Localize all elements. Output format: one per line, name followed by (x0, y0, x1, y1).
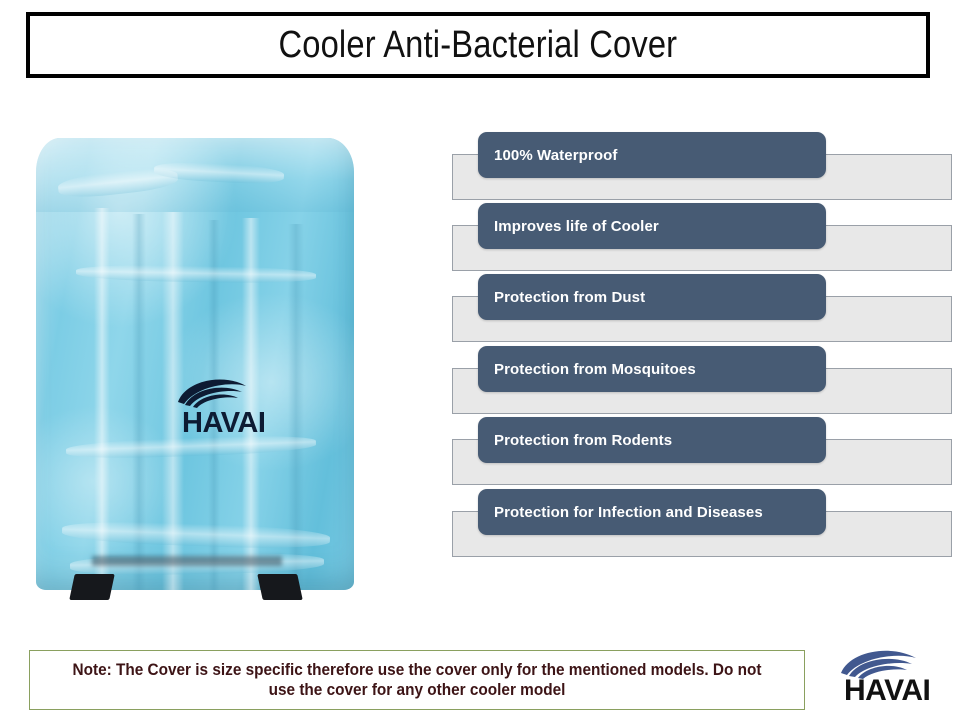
feature-pill[interactable]: Protection from Rodents (478, 417, 826, 463)
cooler-legs (36, 564, 354, 600)
feature-label: Protection for Infection and Diseases (478, 504, 763, 521)
havai-logo-footer: HAVAI (836, 646, 952, 706)
feature-row[interactable]: Protection from Rodents (452, 417, 952, 485)
cooler-leg-right (257, 574, 303, 600)
note-box: Note: The Cover is size specific therefo… (29, 650, 805, 710)
feature-row[interactable]: Protection for Infection and Diseases (452, 489, 952, 557)
havai-wordmark-cover: HAVAI (182, 407, 265, 438)
cooler-cover-fabric (36, 138, 354, 590)
havai-logo-on-cover: HAVAI (172, 372, 290, 438)
note-text: Note: The Cover is size specific therefo… (66, 660, 767, 700)
feature-label: Protection from Rodents (478, 432, 672, 449)
feature-pill[interactable]: Protection from Dust (478, 274, 826, 320)
feature-pill[interactable]: Improves life of Cooler (478, 203, 826, 249)
feature-pill[interactable]: Protection from Mosquitoes (478, 346, 826, 392)
fabric-crease-shadow (132, 214, 146, 590)
feature-row[interactable]: 100% Waterproof (452, 132, 952, 200)
infographic-page: Cooler Anti-Bacterial Cover (0, 0, 960, 720)
fabric-crease (94, 208, 110, 590)
cover-top-face (36, 138, 354, 212)
havai-wordmark-footer: HAVAI (844, 674, 930, 706)
feature-label: 100% Waterproof (478, 147, 617, 164)
feature-label: Protection from Dust (478, 289, 645, 306)
feature-pill[interactable]: Protection for Infection and Diseases (478, 489, 826, 535)
feature-pill[interactable]: 100% Waterproof (478, 132, 826, 178)
feature-label: Protection from Mosquitoes (478, 361, 696, 378)
title-banner: Cooler Anti-Bacterial Cover (26, 12, 930, 78)
fabric-fold (76, 264, 316, 284)
cooler-leg-left (69, 574, 115, 600)
feature-row[interactable]: Protection from Dust (452, 274, 952, 342)
page-title: Cooler Anti-Bacterial Cover (279, 24, 678, 67)
feature-row[interactable]: Improves life of Cooler (452, 203, 952, 271)
feature-row[interactable]: Protection from Mosquitoes (452, 346, 952, 414)
product-image: HAVAI (22, 132, 384, 610)
fabric-crease-shadow (288, 224, 304, 590)
feature-label: Improves life of Cooler (478, 218, 659, 235)
fabric-fold (62, 519, 331, 550)
